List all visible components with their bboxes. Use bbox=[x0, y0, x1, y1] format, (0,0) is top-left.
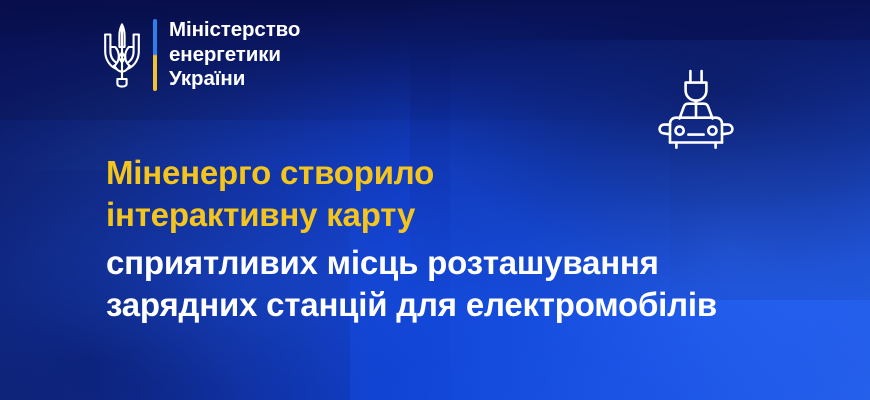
headline-accent-line-2: інтерактивну карту bbox=[106, 194, 806, 236]
headline-subtext: сприятливих місць розташування зарядних … bbox=[106, 242, 806, 326]
logo-line-1: Міністерство bbox=[169, 18, 300, 43]
headline-plain-line-2: зарядних станцій для електромобілів bbox=[106, 284, 806, 326]
electric-vehicle-charging-icon bbox=[652, 66, 740, 154]
logo-line-3: України bbox=[169, 67, 300, 92]
headline-plain-line-1: сприятливих місць розташування bbox=[106, 242, 806, 284]
headline-accent-line-1: Міненерго створило bbox=[106, 152, 806, 194]
ministry-logo: Міністерство енергетики України bbox=[100, 16, 300, 94]
flag-divider-bar bbox=[153, 19, 157, 91]
headline-block: Міненерго створило інтерактивну карту сп… bbox=[106, 152, 806, 326]
logo-line-2: енергетики bbox=[169, 43, 300, 68]
ministry-logo-text: Міністерство енергетики України bbox=[169, 18, 300, 92]
ukrainian-trident-emblem bbox=[100, 21, 144, 89]
promo-banner: Міністерство енергетики України bbox=[0, 0, 870, 400]
